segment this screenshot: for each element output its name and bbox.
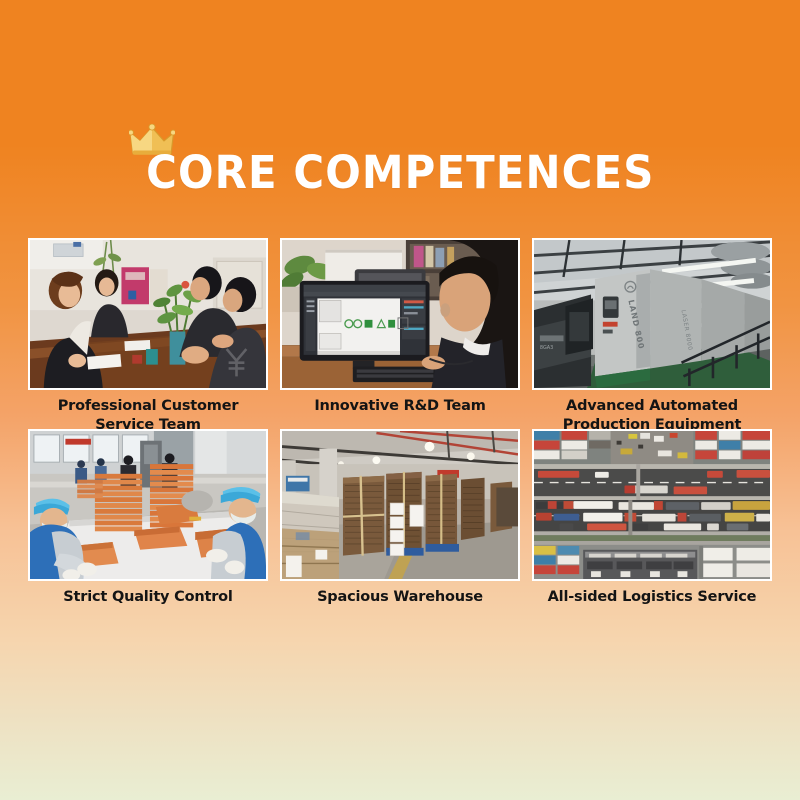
thumbnail-logistics-aerial[interactable] — [532, 429, 772, 581]
title-wrap: CORE COMPETENCES — [127, 150, 674, 195]
card-innovative-rd-team[interactable]: Innovative R&D Team — [280, 238, 520, 428]
caption-line-1: Strict Quality Control — [23, 588, 273, 607]
caption-line-1: Advanced Automated — [527, 397, 777, 416]
thumbnail-rd-workstation[interactable] — [280, 238, 520, 390]
card-caption: All-sided Logistics Service — [527, 588, 777, 607]
competences-grid: Professional Customer Service Team — [28, 238, 772, 619]
thumbnail-meeting-room[interactable] — [28, 238, 268, 390]
caption-line-1: Professional Customer — [23, 397, 273, 416]
svg-text:8GA3: 8GA3 — [540, 345, 553, 351]
page-title: CORE COMPETENCES — [146, 150, 654, 195]
thumbnail-production-equipment[interactable]: 8GA3 LAND 800 LASER 8000 — [532, 238, 772, 390]
card-caption: Strict Quality Control — [23, 588, 273, 607]
caption-line-1: Spacious Warehouse — [275, 588, 525, 607]
card-spacious-warehouse[interactable]: Spacious Warehouse — [280, 429, 520, 619]
card-all-sided-logistics-service[interactable]: All-sided Logistics Service — [532, 429, 772, 619]
page-header: CORE COMPETENCES — [0, 150, 800, 195]
card-caption: Spacious Warehouse — [275, 588, 525, 607]
card-advanced-automated-production-equipment[interactable]: 8GA3 LAND 800 LASER 8000 — [532, 238, 772, 428]
card-professional-customer-service-team[interactable]: Professional Customer Service Team — [28, 238, 268, 428]
caption-line-1: All-sided Logistics Service — [527, 588, 777, 607]
card-caption: Innovative R&D Team — [275, 397, 525, 416]
thumbnail-warehouse[interactable] — [280, 429, 520, 581]
card-strict-quality-control[interactable]: Strict Quality Control — [28, 429, 268, 619]
caption-line-1: Innovative R&D Team — [275, 397, 525, 416]
thumbnail-quality-control[interactable] — [28, 429, 268, 581]
